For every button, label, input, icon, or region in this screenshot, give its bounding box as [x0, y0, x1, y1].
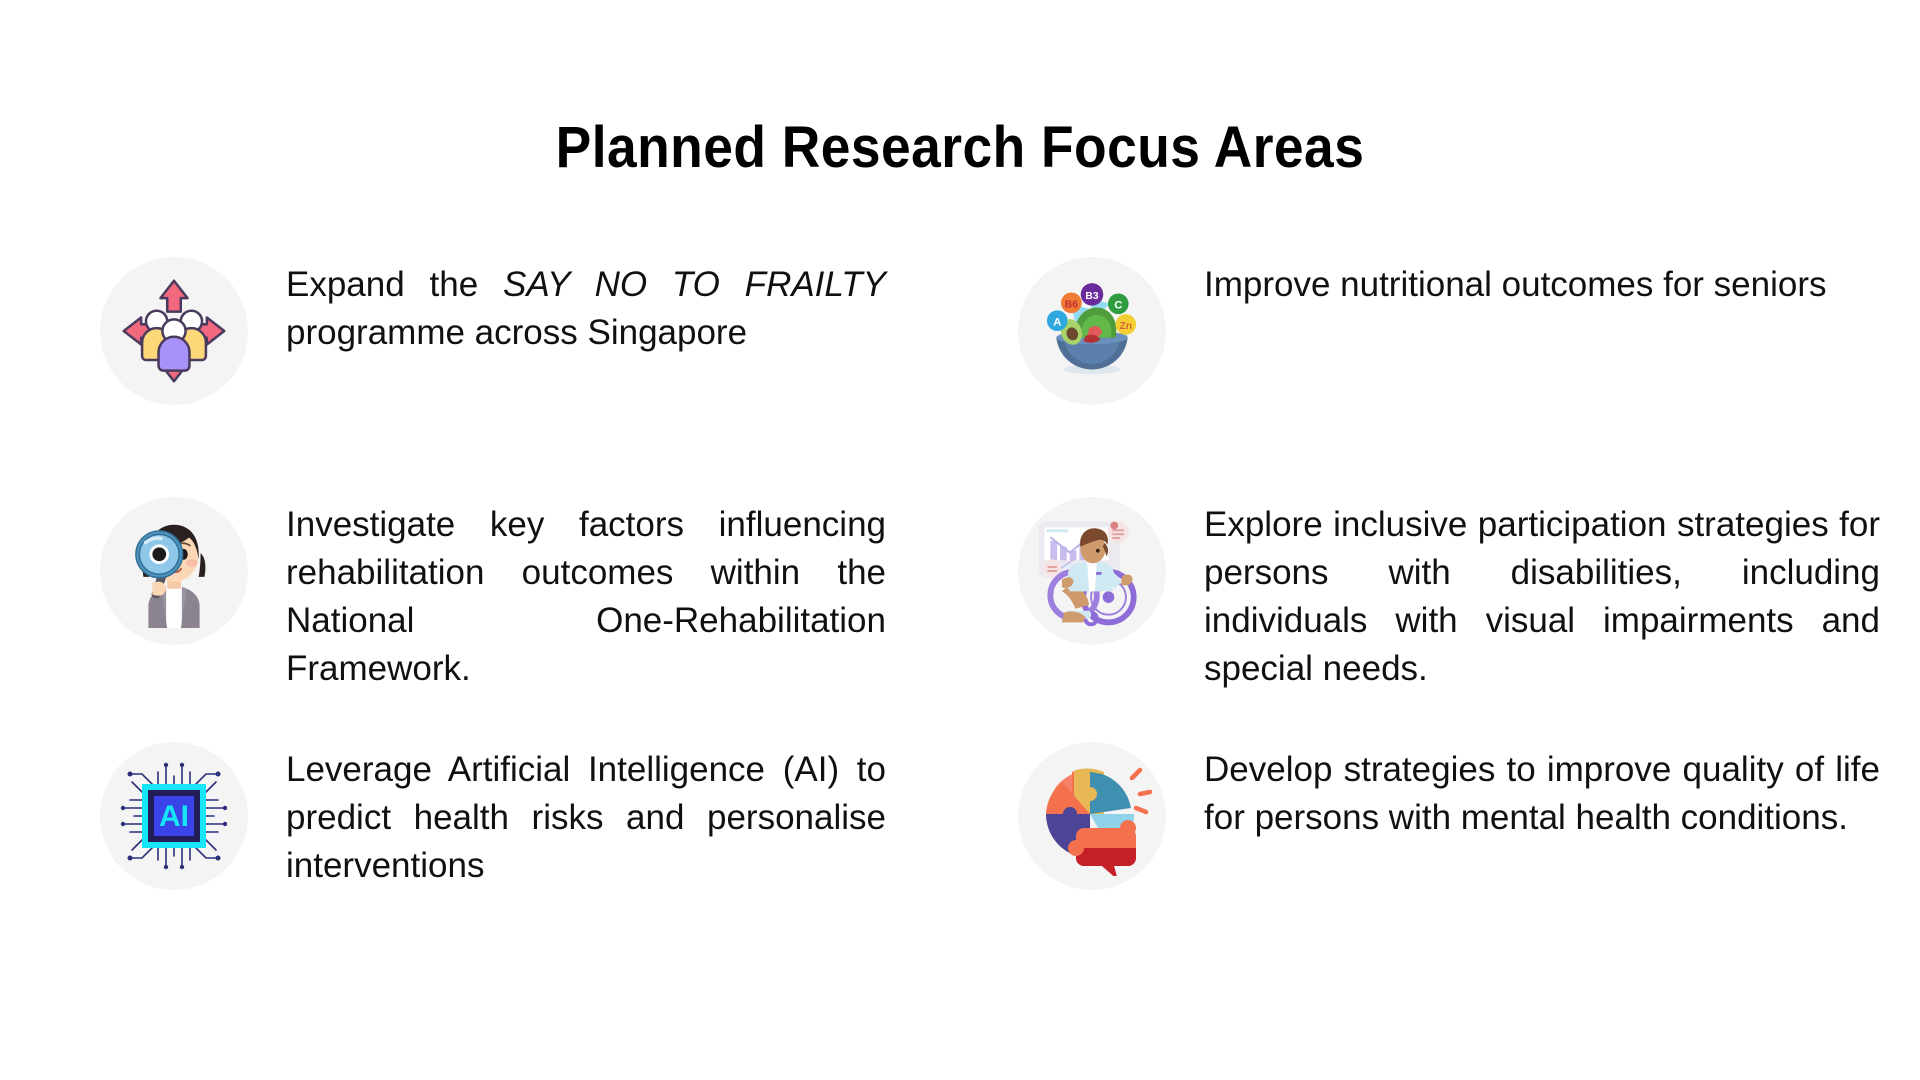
focus-area-item: Develop strategies to improve quality of…: [1000, 740, 1880, 970]
slide-root: Planned Research Focus Areas: [0, 0, 1920, 1080]
focus-text-after: programme across Singapore: [286, 313, 747, 352]
focus-text-before: Expand the: [286, 265, 503, 304]
focus-area-text: Explore inclusive participation strategi…: [1204, 501, 1880, 693]
svg-text:B3: B3: [1085, 291, 1098, 302]
focus-text-emphasis: SAY NO TO FRAILTY: [503, 265, 886, 304]
svg-text:A: A: [1053, 316, 1061, 328]
focus-area-item: Investigate key factors influencing reha…: [100, 495, 960, 740]
ai-chip-icon: AI: [100, 742, 248, 890]
focus-area-text: Investigate key factors influencing reha…: [286, 501, 886, 693]
focus-area-text: Develop strategies to improve quality of…: [1204, 746, 1880, 842]
svg-text:AI: AI: [159, 800, 189, 833]
focus-area-text: Improve nutritional outcomes for seniors: [1204, 261, 1880, 309]
svg-text:C: C: [1114, 299, 1122, 311]
focus-area-text: Leverage Artificial Intelligence (AI) to…: [286, 746, 886, 890]
researcher-magnifier-icon: [100, 497, 248, 645]
focus-area-text: Expand the SAY NO TO FRAILTY programme a…: [286, 261, 886, 357]
svg-text:Zn: Zn: [1119, 321, 1132, 332]
focus-area-item: Explore inclusive participation strategi…: [1000, 495, 1880, 740]
focus-area-item: AI Leverage Artificial Intelligence (AI)…: [100, 740, 960, 970]
nutrition-bowl-vitamins-icon: A B6 B3 C Zn: [1018, 257, 1166, 405]
svg-text:B6: B6: [1065, 300, 1078, 311]
wheelchair-presentation-icon: [1018, 497, 1166, 645]
focus-areas-grid: Expand the SAY NO TO FRAILTY programme a…: [0, 255, 1920, 970]
page-title: Planned Research Focus Areas: [77, 114, 1843, 181]
focus-area-item: Expand the SAY NO TO FRAILTY programme a…: [100, 255, 960, 495]
puzzle-speech-bubble-icon: [1018, 742, 1166, 890]
people-expand-arrows-icon: [100, 257, 248, 405]
focus-area-item: A B6 B3 C Zn Improve nutritional outcome…: [1000, 255, 1880, 495]
